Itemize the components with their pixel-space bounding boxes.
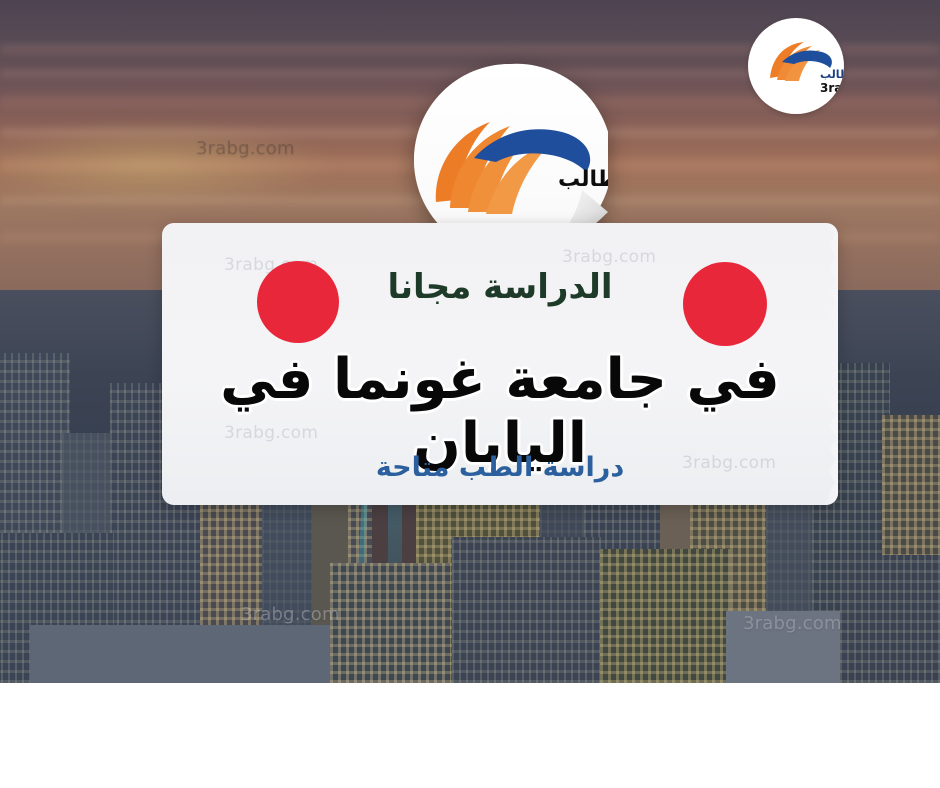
title-card: 3rabg.com 3rabg.com 3rabg.com 3rabg.com … xyxy=(162,223,838,505)
card-kicker: الدراسة مجانا xyxy=(162,269,838,306)
low-rise-roof xyxy=(30,625,330,683)
building xyxy=(330,563,450,683)
sticker-brand-name: ل الطالب xyxy=(558,167,608,192)
brand-badge[interactable]: دليل الطالب 3rabg.com xyxy=(748,18,844,114)
watermark: 3rabg.com xyxy=(562,247,656,267)
low-rise-roof xyxy=(726,611,846,683)
building xyxy=(452,537,602,683)
building xyxy=(840,555,940,683)
poster-canvas: 3rabg.com 3rabg.com 3rabg.com 3rabg.com … xyxy=(0,0,940,788)
footer-bar: دليل الطالب 3rabg.com موقع منح حول العال… xyxy=(0,683,940,788)
card-subline: دراسة الطب متاحة xyxy=(162,453,838,483)
badge-brand-name: دليل الطالب xyxy=(820,68,844,81)
building xyxy=(600,549,730,683)
